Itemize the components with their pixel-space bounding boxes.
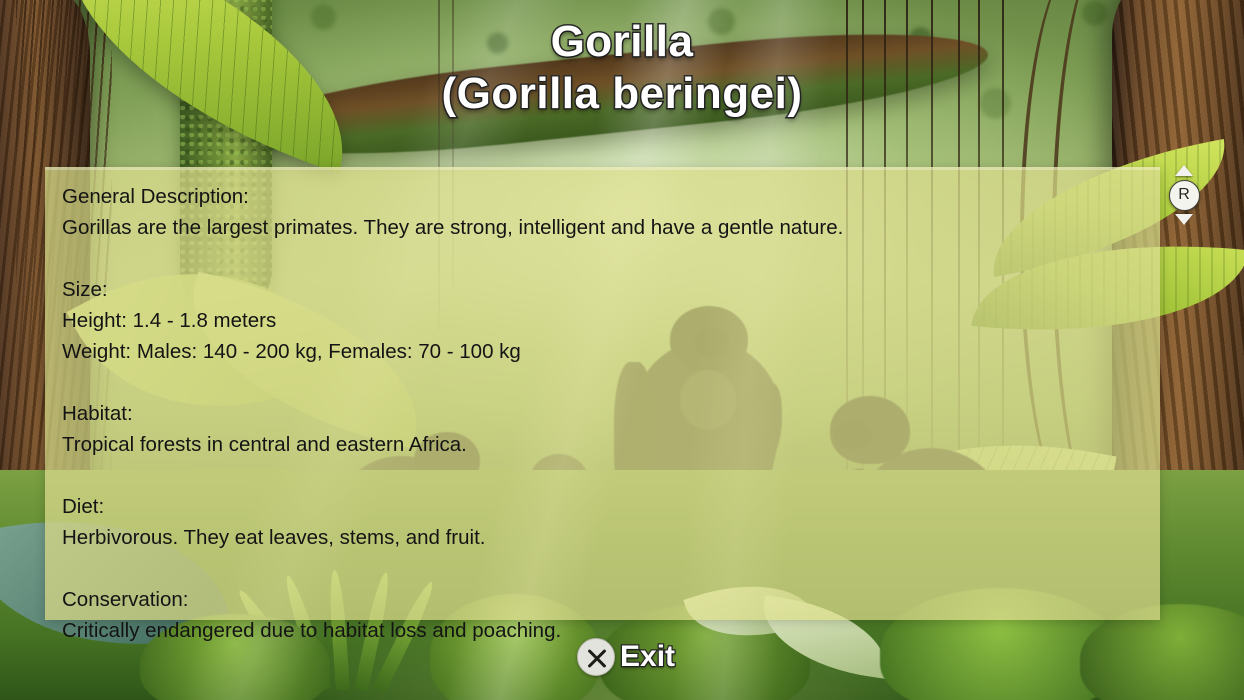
info-section: Conservation:Critically endangered due t… <box>62 584 1146 646</box>
info-section: Habitat:Tropical forests in central and … <box>62 398 1146 460</box>
game-screen: Gorilla (Gorilla beringei) General Descr… <box>0 0 1244 700</box>
scroll-control[interactable]: R <box>1168 165 1200 225</box>
info-section-line: Weight: Males: 140 - 200 kg, Females: 70… <box>62 336 1146 367</box>
exit-button-label: Exit <box>620 640 675 674</box>
info-section-label: General Description: <box>62 181 1146 212</box>
exit-button[interactable]: Exit <box>577 638 675 676</box>
info-section-label: Habitat: <box>62 398 1146 429</box>
info-section: Diet:Herbivorous. They eat leaves, stems… <box>62 491 1146 553</box>
r-button[interactable]: R <box>1169 180 1200 211</box>
close-x-icon[interactable] <box>577 638 615 676</box>
info-section-line: Gorillas are the largest primates. They … <box>62 212 1146 243</box>
info-section-label: Size: <box>62 274 1146 305</box>
info-panel-content: General Description:Gorillas are the lar… <box>62 181 1146 610</box>
chevron-down-icon[interactable] <box>1175 214 1193 225</box>
chevron-up-icon[interactable] <box>1175 165 1193 176</box>
info-section-label: Conservation: <box>62 584 1146 615</box>
info-section-line: Herbivorous. They eat leaves, stems, and… <box>62 522 1146 553</box>
info-section-label: Diet: <box>62 491 1146 522</box>
info-section-line: Height: 1.4 - 1.8 meters <box>62 305 1146 336</box>
info-section: Size:Height: 1.4 - 1.8 metersWeight: Mal… <box>62 274 1146 367</box>
info-section-line: Tropical forests in central and eastern … <box>62 429 1146 460</box>
info-panel: General Description:Gorillas are the lar… <box>45 167 1160 620</box>
info-section: General Description:Gorillas are the lar… <box>62 181 1146 243</box>
